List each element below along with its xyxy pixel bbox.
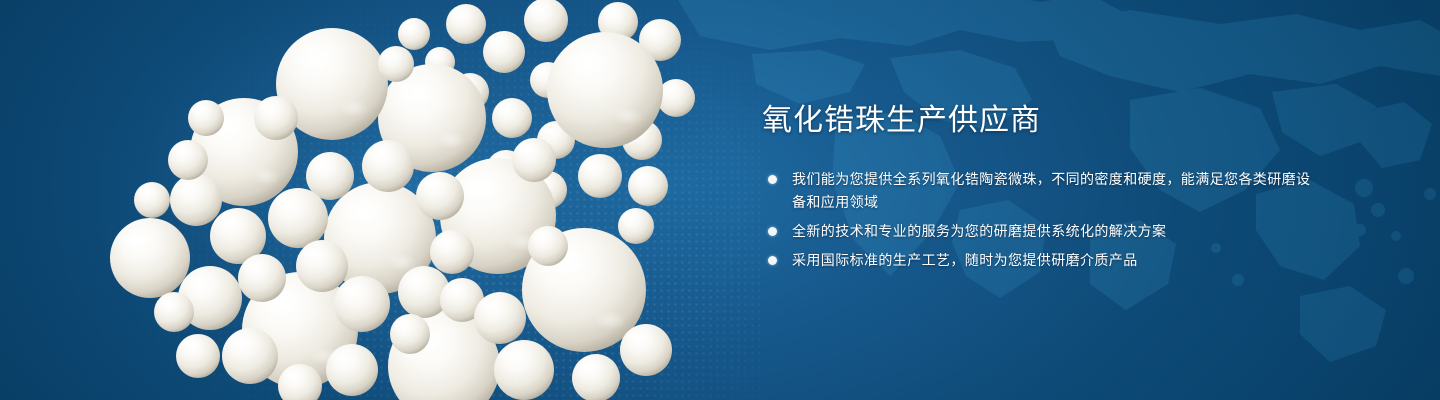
- bullet-text: 全新的技术和专业的服务为您的研磨提供系统化的解决方案: [792, 220, 1322, 243]
- filled-circle-bullet-icon: [768, 175, 777, 184]
- banner-content: 氧化锆珠生产供应商 我们能为您提供全系列氧化锆陶瓷微珠，不同的密度和硬度，能满足…: [762, 104, 1322, 272]
- hero-banner: 氧化锆珠生产供应商 我们能为您提供全系列氧化锆陶瓷微珠，不同的密度和硬度，能满足…: [0, 0, 1440, 400]
- bullet-text: 采用国际标准的生产工艺，随时为您提供研磨介质产品: [792, 249, 1322, 272]
- bullet-text: 我们能为您提供全系列氧化锆陶瓷微珠，不同的密度和硬度，能满足您各类研磨设备和应用…: [792, 168, 1322, 214]
- list-item: 我们能为您提供全系列氧化锆陶瓷微珠，不同的密度和硬度，能满足您各类研磨设备和应用…: [762, 168, 1322, 214]
- list-item: 全新的技术和专业的服务为您的研磨提供系统化的解决方案: [762, 220, 1322, 243]
- banner-headline: 氧化锆珠生产供应商: [762, 104, 1322, 138]
- filled-circle-bullet-icon: [768, 227, 777, 236]
- list-item: 采用国际标准的生产工艺，随时为您提供研磨介质产品: [762, 249, 1322, 272]
- filled-circle-bullet-icon: [768, 256, 777, 265]
- feature-bullet-list: 我们能为您提供全系列氧化锆陶瓷微珠，不同的密度和硬度，能满足您各类研磨设备和应用…: [762, 168, 1322, 272]
